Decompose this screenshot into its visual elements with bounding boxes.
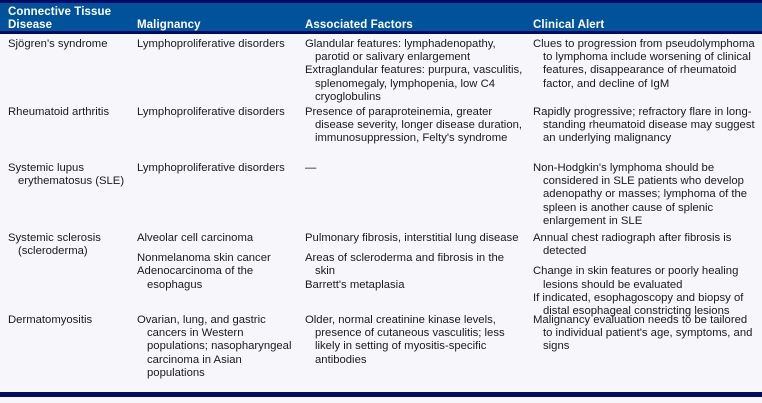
cell-malignancy: Lymphoproliferative disorders bbox=[137, 38, 297, 51]
subentry: Ovarian, lung, and gastric cancers in We… bbox=[147, 314, 297, 380]
cell-disease: Sjögren's syndrome bbox=[8, 38, 134, 51]
subentry: Nonmelanoma skin cancer bbox=[147, 252, 297, 265]
cell-malignancy: Alveolar cell carcinoma Nonmelanoma skin… bbox=[137, 232, 297, 292]
subentry: Barrett's metaplasia bbox=[315, 279, 527, 292]
cell-clinical-alert: Rapidly progressive; refractory flare in… bbox=[533, 106, 758, 146]
table-body: Sjögren's syndrome Lymphoproliferative d… bbox=[0, 34, 762, 397]
subentry: Lymphoproliferative disorders bbox=[147, 106, 297, 119]
subentry: Presence of paraproteinemia, greater dis… bbox=[315, 106, 527, 146]
table-header-row: Connective Tissue Disease Malignancy Ass… bbox=[0, 0, 762, 34]
cell-associated-factors: Pulmonary fibrosis, interstitial lung di… bbox=[305, 232, 527, 292]
cell-malignancy: Ovarian, lung, and gastric cancers in We… bbox=[137, 314, 297, 380]
subentry: Lymphoproliferative disorders bbox=[147, 162, 297, 175]
cell-malignancy: Lymphoproliferative disorders bbox=[137, 106, 297, 119]
cell-disease: Rheumatoid arthritis bbox=[8, 106, 134, 119]
cell-disease: Dermatomyositis bbox=[8, 314, 134, 327]
subentry: Glandular features: lymphadenopathy, par… bbox=[315, 38, 527, 64]
subentry: Older, normal creatinine kinase levels, … bbox=[315, 314, 527, 367]
subentry: Lymphoproliferative disorders bbox=[147, 38, 297, 51]
subentry: Extraglandular features: purpura, vascul… bbox=[315, 64, 527, 104]
cell-clinical-alert: Clues to progression from pseudolymphoma… bbox=[533, 38, 758, 91]
subentry: Clues to progression from pseudolymphoma… bbox=[543, 38, 758, 91]
subentry: Rapidly progressive; refractory flare in… bbox=[543, 106, 758, 146]
subentry: Alveolar cell carcinoma bbox=[147, 232, 297, 245]
cell-disease: Systemic sclerosis (scleroderma) bbox=[8, 232, 134, 258]
subentry: Non-Hodgkin's lymphoma should be conside… bbox=[543, 162, 758, 228]
column-header-connective-tissue-disease: Connective Tissue Disease bbox=[8, 6, 132, 32]
cell-clinical-alert: Annual chest radiograph after fibrosis i… bbox=[533, 232, 758, 318]
cell-associated-factors: Presence of paraproteinemia, greater dis… bbox=[305, 106, 527, 146]
clinical-table: Connective Tissue Disease Malignancy Ass… bbox=[0, 0, 762, 403]
cell-malignancy: Lymphoproliferative disorders bbox=[137, 162, 297, 175]
subentry: Annual chest radiograph after fibrosis i… bbox=[543, 232, 758, 258]
cell-disease: Systemic lupus erythematosus (SLE) bbox=[8, 162, 134, 188]
cell-associated-factors: Glandular features: lymphadenopathy, par… bbox=[305, 38, 527, 104]
cell-associated-factors: Older, normal creatinine kinase levels, … bbox=[305, 314, 527, 367]
subentry: Adenocarcinoma of the esophagus bbox=[147, 265, 297, 291]
subentry: Areas of scleroderma and fibrosis in the… bbox=[315, 252, 527, 278]
column-header-associated-factors: Associated Factors bbox=[305, 19, 525, 32]
cell-clinical-alert: Malignancy evaluation needs to be tailor… bbox=[533, 314, 758, 354]
subentry: Malignancy evaluation needs to be tailor… bbox=[543, 314, 758, 354]
column-header-malignancy: Malignancy bbox=[137, 19, 297, 32]
cell-clinical-alert: Non-Hodgkin's lymphoma should be conside… bbox=[533, 162, 758, 228]
cell-associated-factors: — bbox=[305, 162, 527, 175]
subentry: Pulmonary fibrosis, interstitial lung di… bbox=[315, 232, 527, 245]
subentry: Change in skin features or poorly healin… bbox=[543, 265, 758, 291]
column-header-clinical-alert: Clinical Alert bbox=[533, 19, 753, 32]
